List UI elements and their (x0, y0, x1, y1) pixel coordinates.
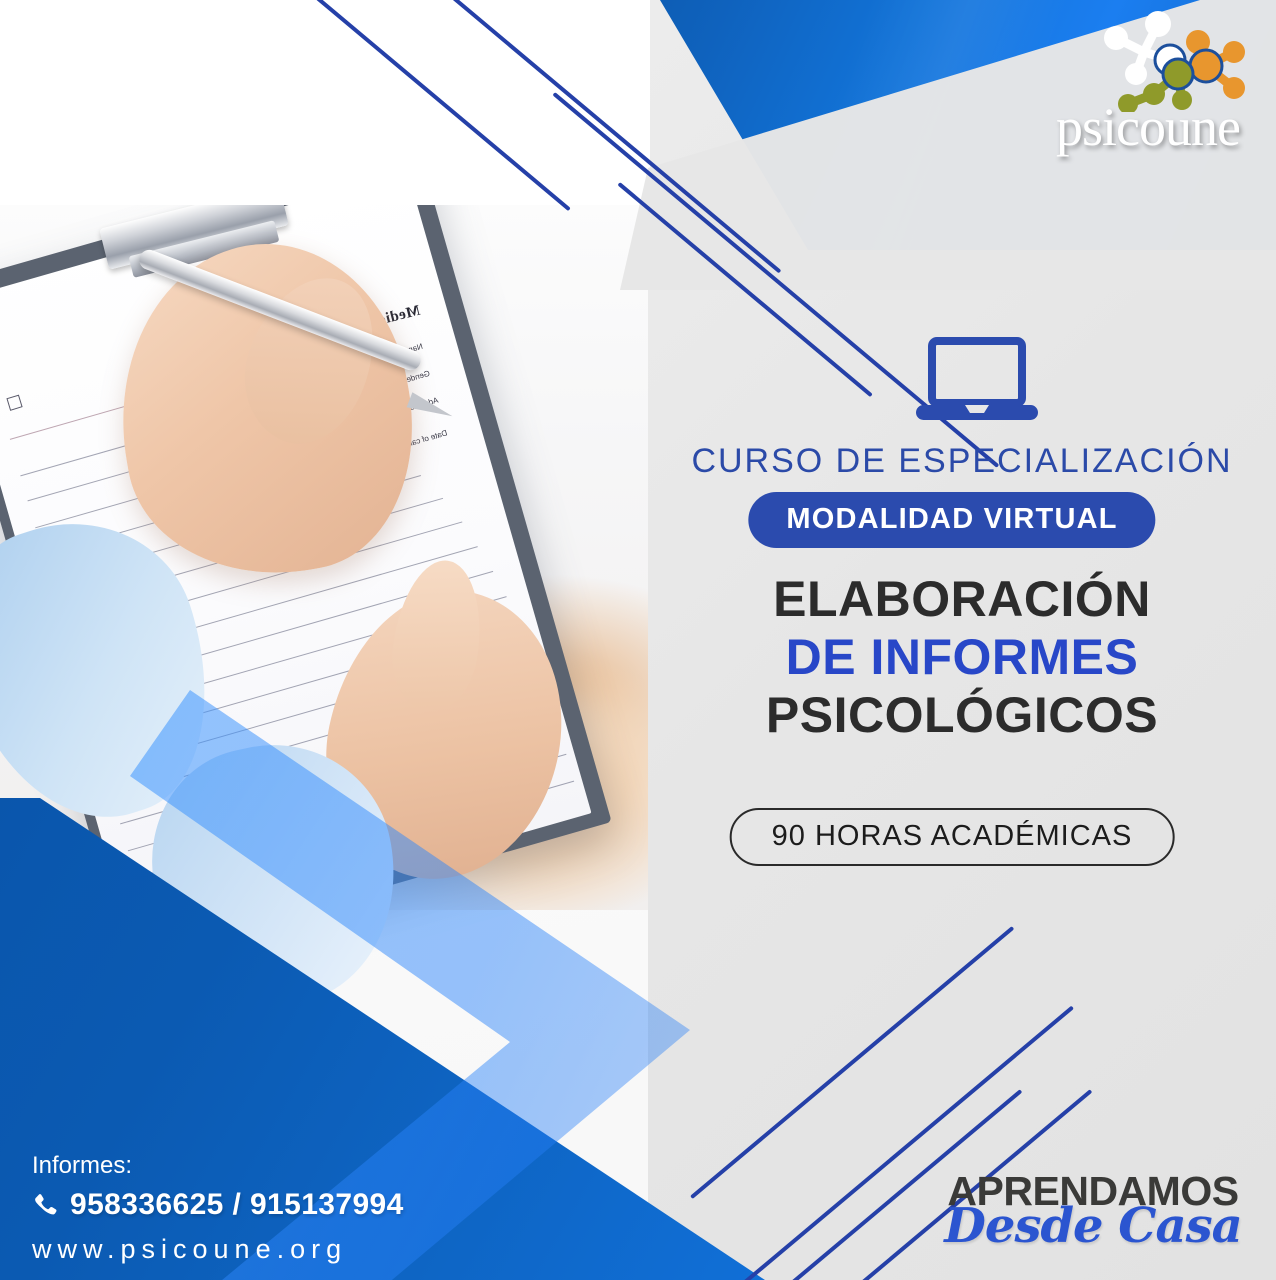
hours-badge: 90 HORAS ACADÉMICAS (730, 808, 1175, 866)
contact-block: Informes: 958336625 / 915137994 www.psic… (32, 1152, 452, 1265)
course-title-line-3: PSICOLÓGICOS (648, 688, 1276, 743)
contact-phone-row[interactable]: 958336625 / 915137994 (32, 1188, 452, 1222)
contact-label: Informes: (32, 1152, 452, 1180)
laptop-icon (912, 337, 1042, 427)
course-title-line-2: DE INFORMES (648, 630, 1276, 685)
contact-website[interactable]: www.psicoune.org (32, 1234, 452, 1265)
form-field-date-of-call: Date of call (407, 428, 448, 448)
course-title-line-1: ELABORACIÓN (648, 572, 1276, 627)
course-kicker: CURSO DE ESPECIALIZACIÓN (648, 442, 1276, 481)
brand-logo[interactable]: psicoune (1020, 8, 1270, 168)
modality-badge: MODALIDAD VIRTUAL (748, 492, 1155, 548)
contact-phones: 958336625 / 915137994 (70, 1188, 404, 1222)
slogan-line-2: Desde Casa (928, 1198, 1258, 1254)
promo-poster: Medical card Name Gender Address Date of… (0, 0, 1276, 1280)
top-left-white-block (0, 0, 650, 205)
form-checkbox (6, 395, 22, 411)
phone-icon (32, 1192, 58, 1218)
slogan-block: APRENDAMOS Desde Casa (928, 1168, 1258, 1268)
logo-wordmark: psicoune (1028, 100, 1268, 154)
